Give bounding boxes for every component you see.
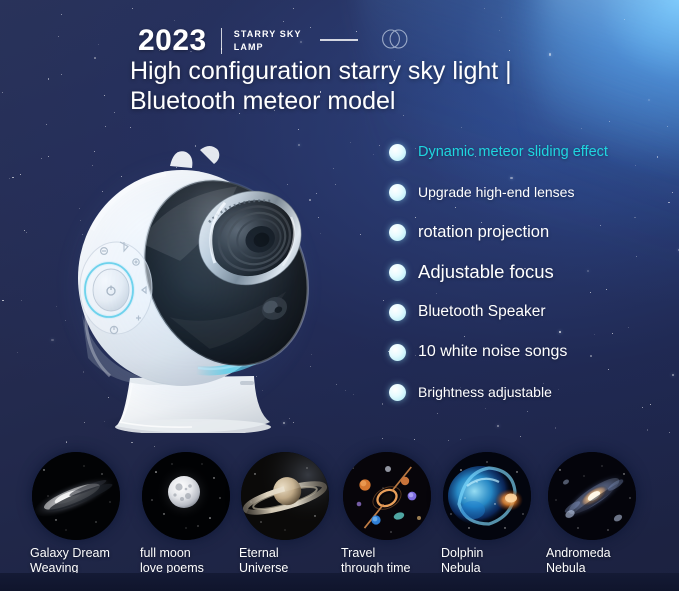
brand-row: 2023 STARRY SKY LAMP [138,24,410,58]
page-title-line2: Bluetooth meteor model [130,86,650,116]
scene-label: Travel through time [335,546,439,575]
scene-item[interactable]: Andromeda Nebula [540,452,644,575]
brand-name-line1: STARRY SKY [234,28,302,41]
scene-label: Galaxy Dream Weaving [24,546,128,575]
scene-item[interactable]: Travel through time [335,452,439,575]
black-hole-thumbnail [343,452,431,540]
year-label: 2023 [138,26,207,56]
andromeda-galaxy-thumbnail [548,452,636,540]
feature-item: rotation projection [389,212,677,252]
bottom-band-decoration [0,573,679,591]
dolphin-nebula-thumbnail [443,452,531,540]
feature-label: Adjustable focus [418,261,554,283]
feature-label: Bluetooth Speaker [418,303,546,321]
feature-label: Dynamic meteor sliding effect [418,144,608,160]
bullet-dot-icon [389,264,406,281]
feature-label: rotation projection [418,223,549,242]
feature-item: Dynamic meteor sliding effect [389,132,677,172]
horizontal-rule-decoration [320,39,358,41]
scene-label-line1: Eternal [239,546,337,561]
feature-item: Bluetooth Speaker [389,292,677,332]
feature-item: Brightness adjustable [389,372,677,412]
full-moon-thumbnail [142,452,230,540]
product-poster: 2023 STARRY SKY LAMP High configuration … [0,0,679,591]
product-glow-decoration [64,156,314,416]
feature-list: Dynamic meteor sliding effect Upgrade hi… [389,132,677,412]
brand-name: STARRY SKY LAMP [234,26,302,56]
vertical-divider [221,28,222,54]
scene-label-line1: Galaxy Dream [30,546,128,561]
scene-label: full moon love poems [134,546,238,575]
saturn-thumbnail [241,452,329,540]
scene-item[interactable]: Dolphin Nebula [435,452,539,575]
feature-item: Upgrade high-end lenses [389,172,677,212]
scene-label: Dolphin Nebula [435,546,539,575]
feature-label: 10 white noise songs [418,343,567,361]
scene-label: Andromeda Nebula [540,546,644,575]
bullet-dot-icon [389,304,406,321]
starry-sky-projector-lamp-image [58,138,323,433]
scene-label-line1: Travel [341,546,439,561]
feature-label: Upgrade high-end lenses [418,184,574,200]
scene-label-line1: Andromeda [546,546,644,561]
scene-label-line1: Dolphin [441,546,539,561]
bullet-dot-icon [389,184,406,201]
scene-item[interactable]: Galaxy Dream Weaving [24,452,128,575]
scene-item[interactable]: Eternal Universe [233,452,337,575]
brand-name-line2: LAMP [234,41,302,54]
page-title: High configuration starry sky light | Bl… [130,56,650,116]
page-title-line1: High configuration starry sky light | [130,57,512,85]
feature-item: 10 white noise songs [389,332,677,372]
bullet-dot-icon [389,384,406,401]
double-circle-logo-icon [380,29,410,54]
bullet-dot-icon [389,344,406,361]
scene-item[interactable]: full moon love poems [134,452,238,575]
feature-item: Adjustable focus [389,252,677,292]
bullet-dot-icon [389,224,406,241]
milky-way-thumbnail [32,452,120,540]
scene-label-line1: full moon [140,546,238,561]
scene-label: Eternal Universe [233,546,337,575]
scene-thumbnail-row: Galaxy Dream Weaving [0,452,679,580]
bullet-dot-icon [389,144,406,161]
feature-label: Brightness adjustable [418,384,552,400]
